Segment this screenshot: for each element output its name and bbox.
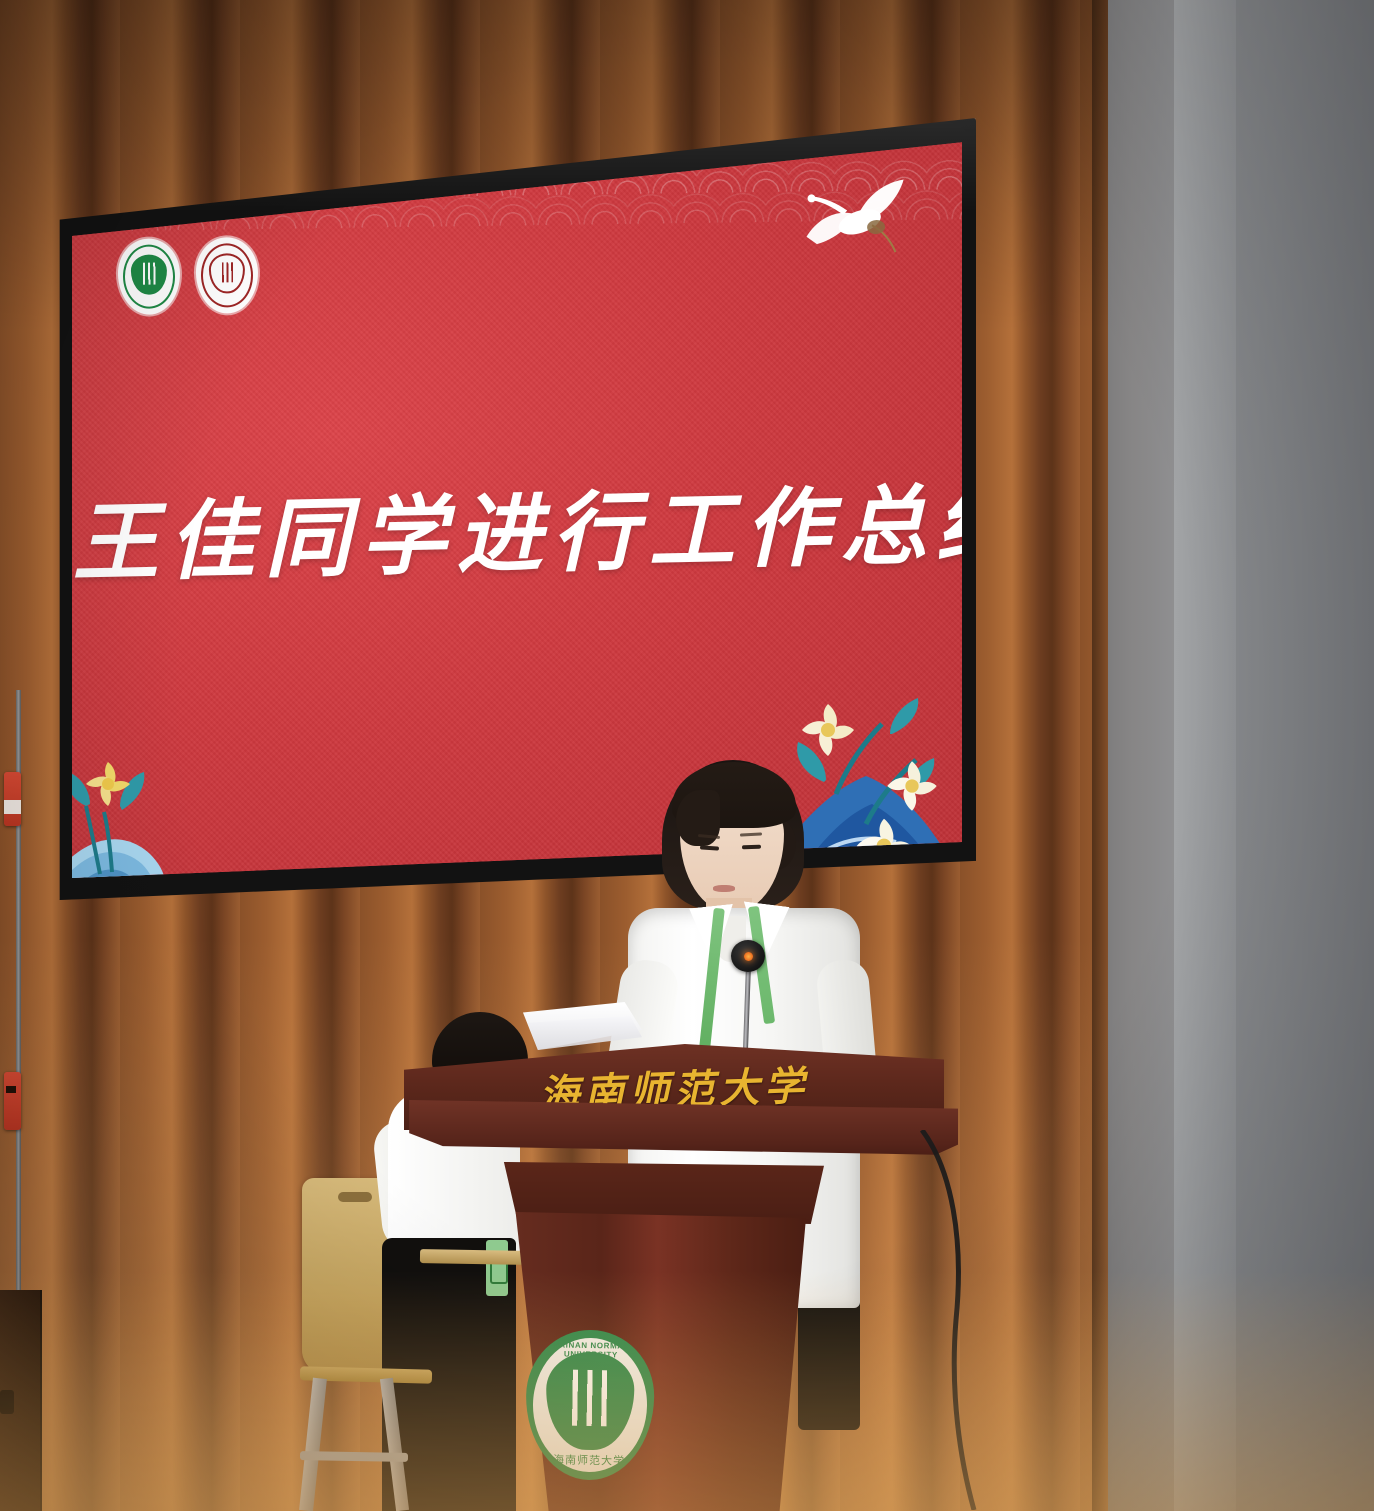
speaker-mouth: [713, 885, 735, 892]
stage-speaker-cabinet: [0, 1290, 42, 1511]
led-display-screen: 王佳同学进行工作总结: [56, 118, 976, 900]
chair-handle-slot: [338, 1192, 372, 1202]
secondary-school-seal-icon: [195, 237, 258, 314]
cabinet-handle-notch: [0, 1390, 14, 1414]
podium-desktop: [398, 1100, 958, 1172]
screen-title-text: 王佳同学进行工作总结: [72, 455, 962, 599]
gray-wall-panel-left: [1174, 0, 1236, 1511]
gray-wall-panel-inner: [1108, 0, 1174, 1511]
lectern-podium: 海南师范大学 HAINAN NORMAL UNIVERSITY 海南师范大学: [398, 1044, 958, 1511]
screen-emblem-row: [117, 237, 258, 315]
fire-alarm-device-lower: [4, 1072, 21, 1130]
university-crest-icon: HAINAN NORMAL UNIVERSITY 海南师范大学: [525, 1329, 656, 1481]
speaker-eye-right: [742, 845, 761, 850]
fire-alarm-device-upper: [4, 772, 21, 826]
microphone-status-led: [744, 952, 753, 961]
hainan-normal-university-seal-icon: [117, 238, 180, 315]
floral-decoration-left: [72, 714, 274, 884]
flying-crane-icon: [795, 173, 920, 279]
photo-scene: 王佳同学进行工作总结 海南师范大学: [0, 0, 1374, 1511]
screen-content-area: 王佳同学进行工作总结: [72, 134, 962, 884]
gray-wall-panel-right: [1236, 0, 1374, 1511]
crest-chinese-text: 海南师范大学: [525, 1451, 653, 1469]
chair-crossbar: [300, 1451, 408, 1462]
